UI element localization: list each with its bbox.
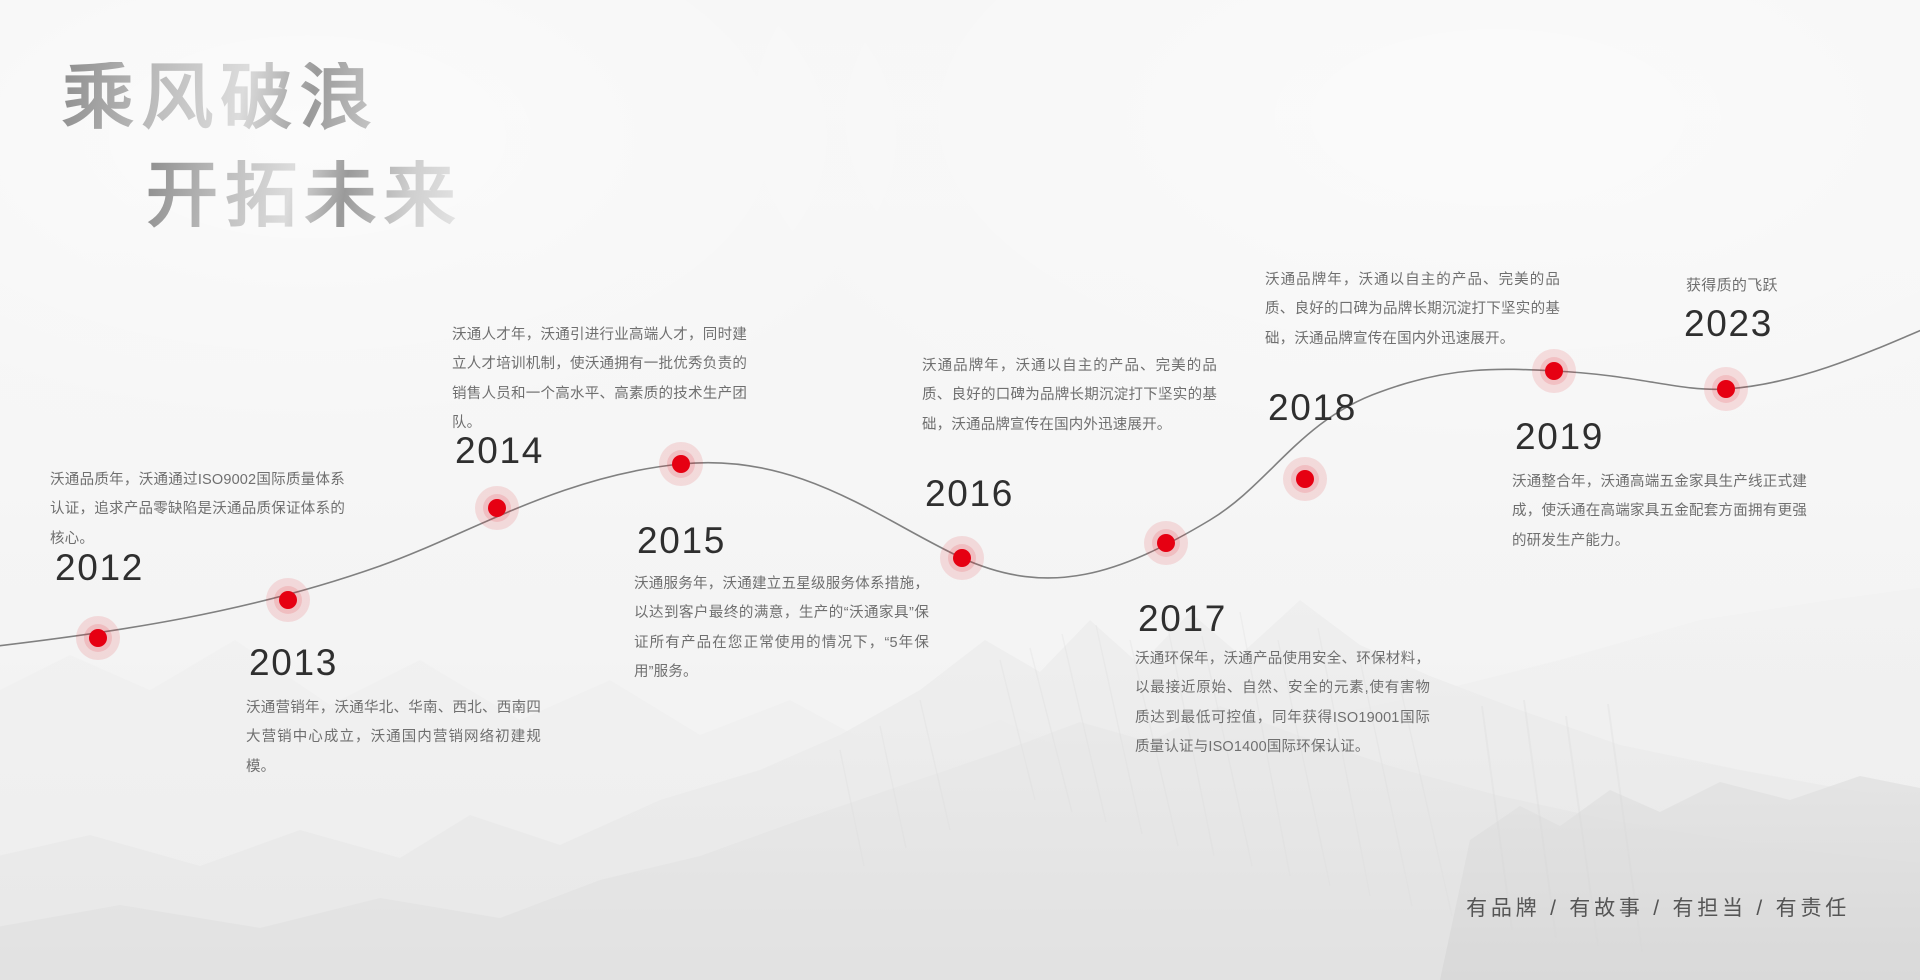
milestone-year-2012: 2012	[55, 549, 144, 586]
milestone-description-2016: 沃通品牌年，沃通以自主的产品、完美的品质、良好的口碑为品牌长期沉淀打下坚实的基础…	[922, 352, 1217, 440]
milestone-year-2019: 2019	[1515, 418, 1604, 455]
milestone-description-2014: 沃通人才年，沃通引进行业高端人才，同时建立人才培训机制，使沃通拥有一批优秀负责的…	[452, 321, 747, 439]
milestone-year-2023: 2023	[1684, 305, 1773, 342]
milestone-year-2013: 2013	[249, 644, 338, 681]
milestone-description-2018: 沃通品牌年，沃通以自主的产品、完美的品质、良好的口碑为品牌长期沉淀打下坚实的基础…	[1265, 266, 1560, 354]
milestone-description-2013: 沃通营销年，沃通华北、华南、西北、西南四大营销中心成立，沃通国内营销网络初建规模…	[246, 694, 541, 782]
milestone-dot-2012[interactable]	[76, 616, 120, 660]
milestone-dot-2013[interactable]	[266, 578, 310, 622]
title-line-1: 乘风破浪	[62, 62, 463, 134]
milestone-year-2017: 2017	[1138, 600, 1227, 637]
milestone-year-2015: 2015	[637, 522, 726, 559]
milestone-description-2019: 沃通整合年，沃通高端五金家具生产线正式建成，使沃通在高端家具五金配套方面拥有更强…	[1512, 468, 1807, 556]
milestone-dot-2019[interactable]	[1532, 349, 1576, 393]
poster-title: 乘风破浪 开拓未来	[62, 62, 463, 232]
milestone-description-2017: 沃通环保年，沃通产品使用安全、环保材料，以最接近原始、自然、安全的元素,使有害物…	[1135, 645, 1430, 763]
title-line-2: 开拓未来	[146, 160, 463, 232]
milestone-year-2018: 2018	[1268, 389, 1357, 426]
milestone-dot-2018[interactable]	[1283, 457, 1327, 501]
milestone-dot-2015[interactable]	[659, 442, 703, 486]
milestone-dot-2023[interactable]	[1704, 367, 1748, 411]
footer-tagline: 有品牌 / 有故事 / 有担当 / 有责任	[1466, 892, 1850, 922]
milestone-year-2016: 2016	[925, 475, 1014, 512]
milestone-headline-2023: 获得质的飞跃	[1686, 278, 1778, 293]
milestone-dot-2014[interactable]	[475, 486, 519, 530]
milestone-dot-2016[interactable]	[940, 536, 984, 580]
timeline-poster: 乘风破浪 开拓未来 2012沃通品质年，沃通通过ISO9002国际质量体系认证，…	[0, 0, 1920, 980]
milestone-description-2012: 沃通品质年，沃通通过ISO9002国际质量体系认证，追求产品零缺陷是沃通品质保证…	[50, 466, 345, 554]
milestone-description-2015: 沃通服务年，沃通建立五星级服务体系措施，以达到客户最终的满意，生产的“沃通家具”…	[634, 570, 929, 688]
milestone-dot-2017[interactable]	[1144, 521, 1188, 565]
